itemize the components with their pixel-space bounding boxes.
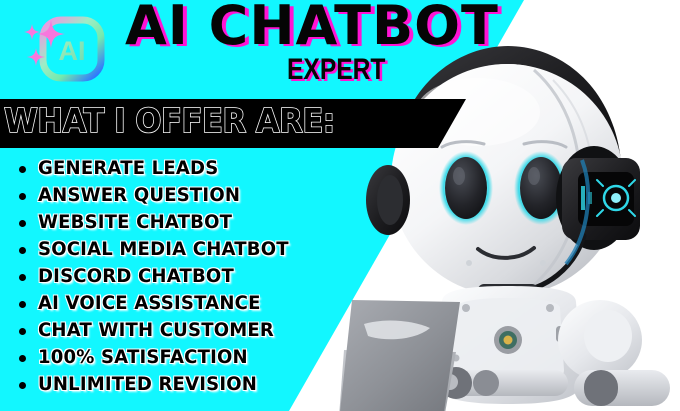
list-item: DISCORD CHATBOT: [14, 263, 302, 290]
bullet-icon: [19, 382, 26, 389]
ai-sparkle-logo: AI: [16, 8, 108, 92]
bullet-icon: [19, 193, 26, 200]
list-item-label: WEBSITE CHATBOT: [38, 213, 232, 232]
offer-list: GENERATE LEADS ANSWER QUESTION WEBSITE C…: [14, 155, 302, 398]
list-item: AI VOICE ASSISTANCE: [14, 290, 302, 317]
list-item-label: AI VOICE ASSISTANCE: [38, 294, 261, 313]
bullet-icon: [19, 247, 26, 254]
bullet-icon: [19, 274, 26, 281]
list-item: CHAT WITH CUSTOMER: [14, 317, 302, 344]
list-item: GENERATE LEADS: [14, 155, 302, 182]
list-item-label: 100% SATISFACTION: [38, 348, 248, 367]
offer-band-heading: WHAT I OFFER ARE:: [4, 104, 335, 137]
bullet-icon: [19, 220, 26, 227]
list-item-label: ANSWER QUESTION: [38, 186, 240, 205]
robot-eye-left: [439, 151, 493, 225]
list-item-label: UNLIMITED REVISION: [38, 375, 257, 394]
list-item-label: GENERATE LEADS: [38, 159, 218, 178]
bullet-icon: [19, 301, 26, 308]
list-item-label: DISCORD CHATBOT: [38, 267, 234, 286]
list-item-label: CHAT WITH CUSTOMER: [38, 321, 274, 340]
robot-arm-right: [558, 300, 670, 406]
headphone-earcup-right: [556, 146, 640, 250]
robot-illustration: [338, 40, 680, 411]
list-item-label: SOCIAL MEDIA CHATBOT: [38, 240, 289, 259]
laptop: [338, 300, 460, 411]
bullet-icon: [19, 166, 26, 173]
list-item: ANSWER QUESTION: [14, 182, 302, 209]
headphone-earcup-left: [366, 165, 410, 235]
bullet-icon: [19, 355, 26, 362]
list-item: WEBSITE CHATBOT: [14, 209, 302, 236]
poster-root: AI AI CHATBOT EXPERT WHAT I OFFER ARE: G…: [0, 0, 680, 411]
list-item: UNLIMITED REVISION: [14, 371, 302, 398]
list-item: 100% SATISFACTION: [14, 344, 302, 371]
list-item: SOCIAL MEDIA CHATBOT: [14, 236, 302, 263]
bullet-icon: [19, 328, 26, 335]
logo-ai-text: AI: [59, 36, 86, 66]
